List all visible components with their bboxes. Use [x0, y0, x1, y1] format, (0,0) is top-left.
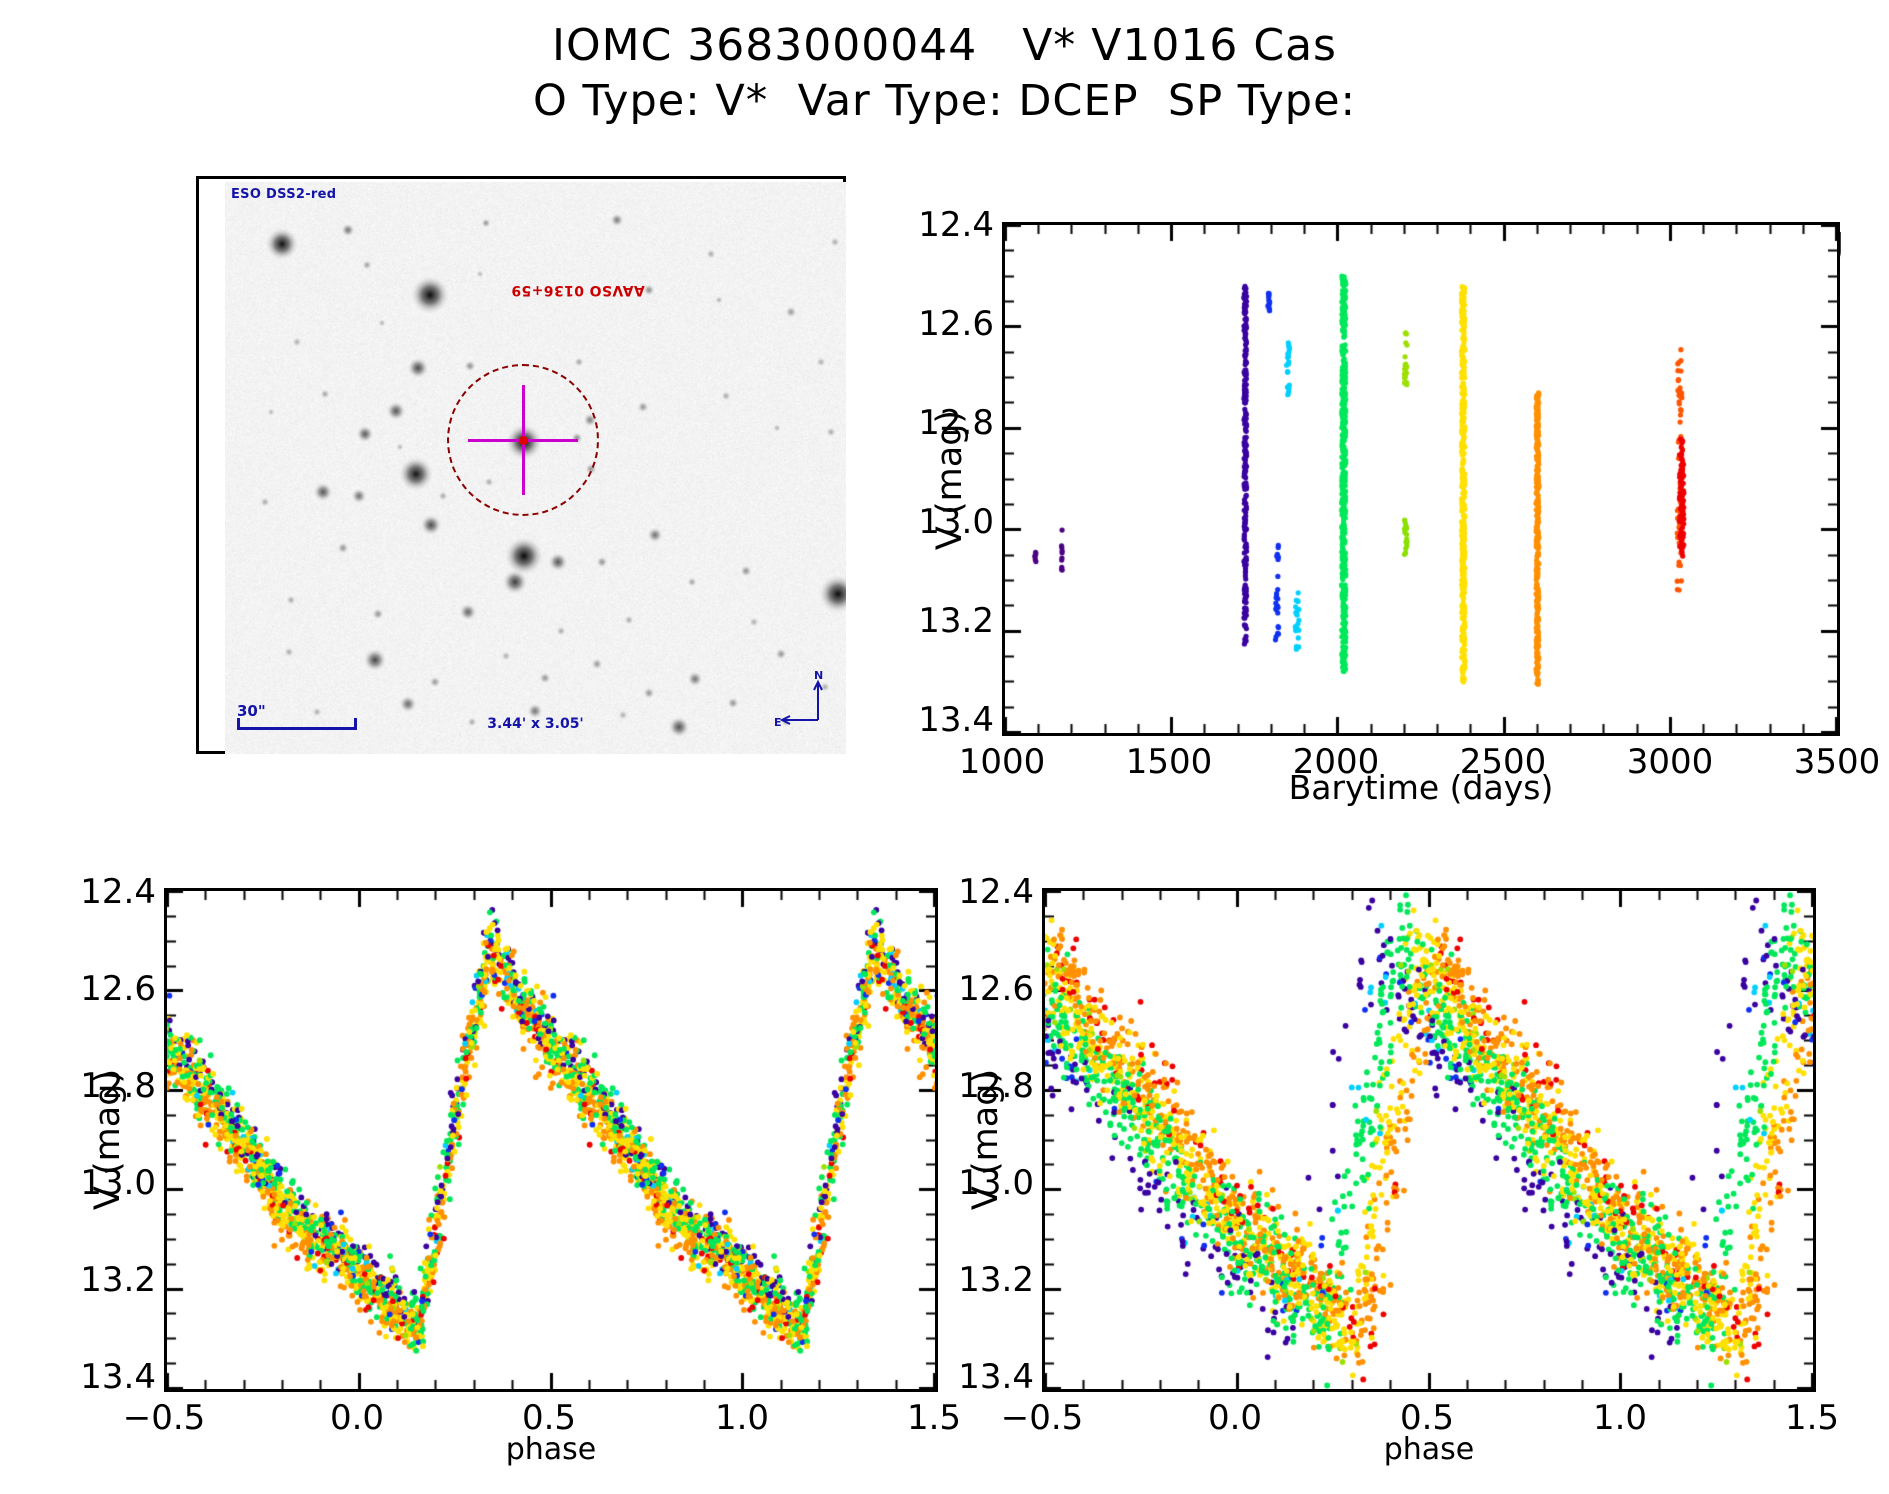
omc-xtick-1-5: 1.5	[874, 1398, 994, 1438]
field-of-view-label: 3.44' x 3.05'	[487, 716, 583, 732]
omc-ytick-12-4: 12.4	[72, 872, 156, 912]
vsx-phase-canvas	[1045, 891, 1813, 1389]
vsx-ytick-13-4: 13.4	[950, 1357, 1034, 1397]
lc-xtick-1000: 1000	[942, 742, 1062, 782]
survey-label: ESO DSS2-red	[231, 187, 336, 202]
scale-bar	[237, 727, 357, 730]
lc-xtick-3000: 3000	[1610, 742, 1730, 782]
lc-ytick-12-6: 12.6	[910, 304, 994, 344]
sky-image-frame: ESO DSS2-red AAVSO 0136+59 30" 3.44' x 3…	[196, 176, 846, 754]
vsx-xtick-m0-5: −0.5	[982, 1398, 1102, 1438]
svg-text:N: N	[814, 669, 823, 682]
lightcurve-plot-area	[1002, 222, 1840, 736]
vsx-ytick-12-6: 12.6	[950, 969, 1034, 1009]
vsx-xtick-1-5: 1.5	[1752, 1398, 1872, 1438]
sky-image-panel: ESO DSS2-red AAVSO 0136+59 30" 3.44' x 3…	[196, 176, 846, 754]
vsx-ytick-13-2: 13.2	[950, 1260, 1034, 1300]
vsx-ytick-12-4: 12.4	[950, 872, 1034, 912]
svg-text:E: E	[774, 716, 782, 729]
lc-ytick-13-2: 13.2	[910, 601, 994, 641]
vsx-phase-plot-area	[1042, 888, 1816, 1392]
omc-xtick-m0-5: −0.5	[104, 1398, 224, 1438]
lc-ytick-12-4: 12.4	[910, 205, 994, 245]
lc-xtick-2000: 2000	[1276, 742, 1396, 782]
lc-ytick-13-4: 13.4	[910, 700, 994, 740]
vsx-xtick-0-5: 0.5	[1367, 1398, 1487, 1438]
figure-title-block: IOMC 3683000044 V* V1016 Cas O Type: V* …	[0, 18, 1889, 129]
vsx-ytick-13-0: 13.0	[950, 1163, 1034, 1203]
lightcurve-canvas	[1005, 225, 1837, 733]
object-type-line: O Type: V* Var Type: DCEP SP Type:	[0, 74, 1889, 129]
lc-xtick-1500: 1500	[1109, 742, 1229, 782]
omc-ytick-13-2: 13.2	[72, 1260, 156, 1300]
omc-ytick-13-0: 13.0	[72, 1163, 156, 1203]
lc-xtick-2500: 2500	[1443, 742, 1563, 782]
lc-xtick-3500: 3500	[1777, 742, 1889, 782]
figure-page: IOMC 3683000044 V* V1016 Cas O Type: V* …	[0, 0, 1889, 1494]
omc-ytick-12-8: 12.8	[72, 1066, 156, 1106]
omc-phase-plot-area	[164, 888, 938, 1392]
omc-xtick-0-5: 0.5	[489, 1398, 609, 1438]
scale-bar-right-cap	[354, 718, 357, 730]
omc-ytick-13-4: 13.4	[72, 1357, 156, 1397]
lc-ytick-12-8: 12.8	[910, 403, 994, 443]
vsx-ytick-12-8: 12.8	[950, 1066, 1034, 1106]
vsx-xtick-0-0: 0.0	[1175, 1398, 1295, 1438]
aavso-target-label: AAVSO 0136+59	[511, 282, 645, 298]
omc-ytick-12-6: 12.6	[72, 969, 156, 1009]
omc-xtick-1-0: 1.0	[682, 1398, 802, 1438]
compass-rose-icon: N E	[774, 668, 832, 734]
lc-ytick-13-0: 13.0	[910, 502, 994, 542]
vsx-xtick-1-0: 1.0	[1560, 1398, 1680, 1438]
omc-xtick-0-0: 0.0	[297, 1398, 417, 1438]
dss-sky-image: ESO DSS2-red AAVSO 0136+59 30" 3.44' x 3…	[225, 182, 846, 754]
omc-phase-canvas	[167, 891, 935, 1389]
page-title: IOMC 3683000044 V* V1016 Cas	[0, 18, 1889, 74]
scale-bar-label: 30"	[237, 702, 266, 720]
target-center-marker	[519, 436, 528, 445]
